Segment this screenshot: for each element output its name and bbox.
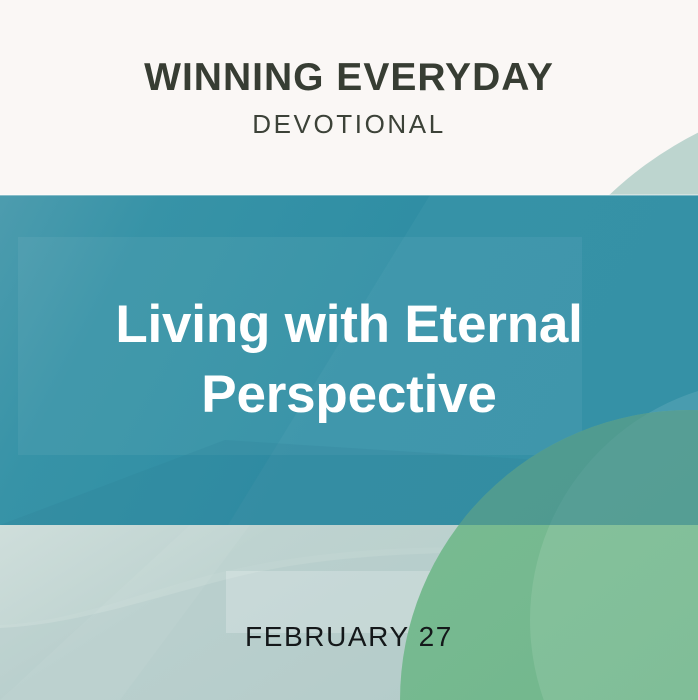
devotional-title: Living with Eternal Perspective [0, 290, 698, 430]
brand-subtitle: DEVOTIONAL [252, 111, 446, 137]
header: WINNING EVERYDAY DEVOTIONAL [0, 0, 698, 195]
title-section: Living with Eternal Perspective [0, 195, 698, 525]
date-section: FEBRUARY 27 [0, 525, 698, 700]
devotional-card: WINNING EVERYDAY DEVOTIONAL Living with … [0, 0, 698, 700]
brand-title: WINNING EVERYDAY [144, 58, 554, 97]
date-label: FEBRUARY 27 [245, 623, 453, 651]
